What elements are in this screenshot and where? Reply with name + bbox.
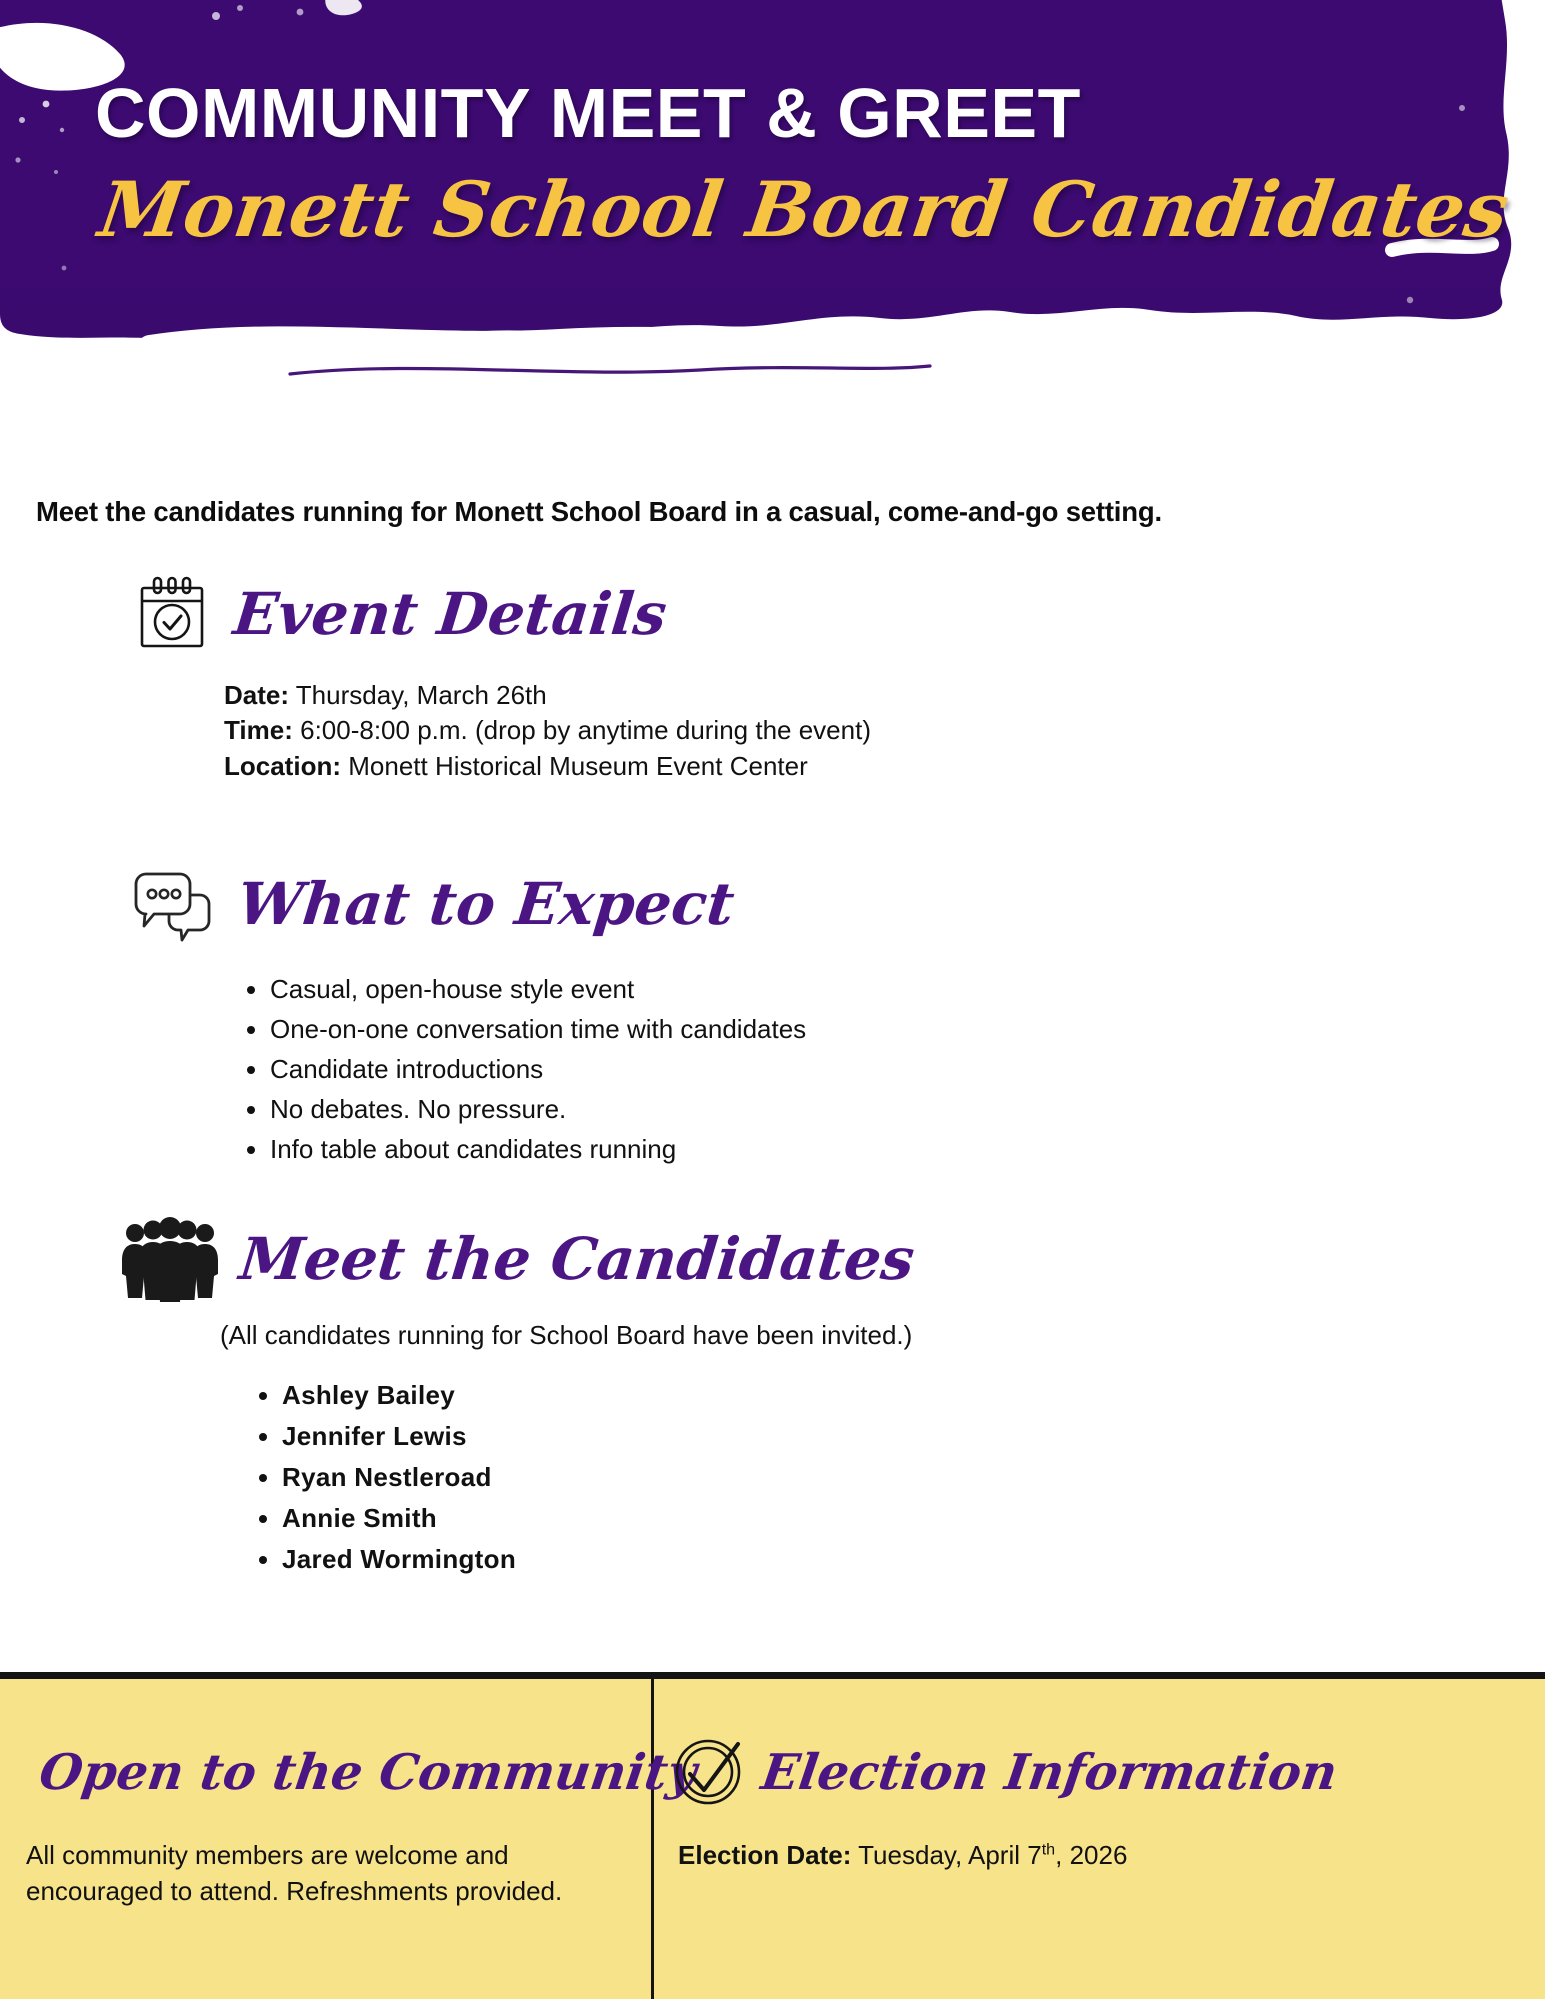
- list-item: One-on-one conversation time with candid…: [270, 1012, 1328, 1048]
- page-subtitle: Monett School Board Candidates: [94, 170, 1485, 250]
- footer-section-header: Election Information: [672, 1736, 1532, 1808]
- footer-section-title: Election Information: [759, 1748, 1341, 1797]
- detail-label: Time:: [224, 715, 293, 745]
- footer-left-body: All community members are welcome and en…: [26, 1838, 636, 1910]
- list-item: Annie Smith: [282, 1500, 1368, 1537]
- section-title: Meet the Candidates: [237, 1230, 917, 1288]
- detail-value: Monett Historical Museum Event Center: [348, 751, 808, 781]
- what-to-expect-list: Casual, open-house style event One-on-on…: [224, 972, 1328, 1167]
- election-date-year: , 2026: [1055, 1840, 1127, 1870]
- section-title: Event Details: [231, 585, 669, 643]
- detail-value: Thursday, March 26th: [296, 680, 547, 710]
- calendar-check-icon: [128, 572, 216, 656]
- section-what-to-expect: What to Expect Casual, open-house style …: [128, 862, 1328, 1171]
- detail-value: 6:00-8:00 p.m. (drop by anytime during t…: [300, 715, 871, 745]
- intro-text: Meet the candidates running for Monett S…: [36, 496, 1516, 528]
- header-banner: COMMUNITY MEET & GREET Monett School Boa…: [0, 0, 1545, 420]
- candidates-list: Ashley Bailey Jennifer Lewis Ryan Nestle…: [236, 1377, 1368, 1578]
- list-item: Casual, open-house style event: [270, 972, 1328, 1008]
- page-title: COMMUNITY MEET & GREET: [95, 78, 1455, 148]
- candidates-note: (All candidates running for School Board…: [220, 1320, 1368, 1351]
- footer-section-header: Open to the Community: [26, 1736, 636, 1808]
- list-item: Info table about candidates running: [270, 1132, 1328, 1168]
- detail-row-location: Location: Monett Historical Museum Event…: [224, 749, 1328, 784]
- group-of-people-icon: [118, 1216, 222, 1302]
- list-item: No debates. No pressure.: [270, 1092, 1328, 1128]
- election-date-value: Tuesday, April 7: [858, 1840, 1042, 1870]
- speech-bubbles-icon: [128, 862, 220, 946]
- list-item: Candidate introductions: [270, 1052, 1328, 1088]
- check-circle-icon: [672, 1736, 748, 1808]
- detail-row-time: Time: 6:00-8:00 p.m. (drop by anytime du…: [224, 713, 1328, 748]
- footer-election-information: Election Information Election Date: Tues…: [672, 1736, 1532, 1874]
- list-item: Ryan Nestleroad: [282, 1459, 1368, 1496]
- section-header: Event Details: [128, 572, 1328, 656]
- detail-row-date: Date: Thursday, March 26th: [224, 678, 1328, 713]
- detail-label: Date:: [224, 680, 289, 710]
- section-meet-the-candidates: Meet the Candidates (All candidates runn…: [118, 1216, 1368, 1582]
- list-item: Jared Wormington: [282, 1541, 1368, 1578]
- election-date-label: Election Date:: [678, 1840, 851, 1870]
- footer-column-divider: [651, 1679, 654, 1999]
- section-header: What to Expect: [128, 862, 1328, 946]
- list-item: Jennifer Lewis: [282, 1418, 1368, 1455]
- detail-label: Location:: [224, 751, 341, 781]
- election-date-ordinal: th: [1042, 1840, 1055, 1858]
- footer-section-title: Open to the Community: [37, 1748, 700, 1797]
- footer-left-line-1: All community members are welcome and: [26, 1838, 636, 1874]
- footer-right-body: Election Date: Tuesday, April 7th, 2026: [678, 1838, 1532, 1874]
- section-title: What to Expect: [235, 875, 737, 933]
- footer-open-to-community: Open to the Community All community memb…: [26, 1736, 636, 1910]
- section-event-details: Event Details Date: Thursday, March 26th…: [128, 572, 1328, 784]
- footer-left-line-2: encouraged to attend. Refreshments provi…: [26, 1874, 636, 1910]
- list-item: Ashley Bailey: [282, 1377, 1368, 1414]
- section-header: Meet the Candidates: [118, 1216, 1368, 1302]
- event-details-list: Date: Thursday, March 26th Time: 6:00-8:…: [224, 678, 1328, 784]
